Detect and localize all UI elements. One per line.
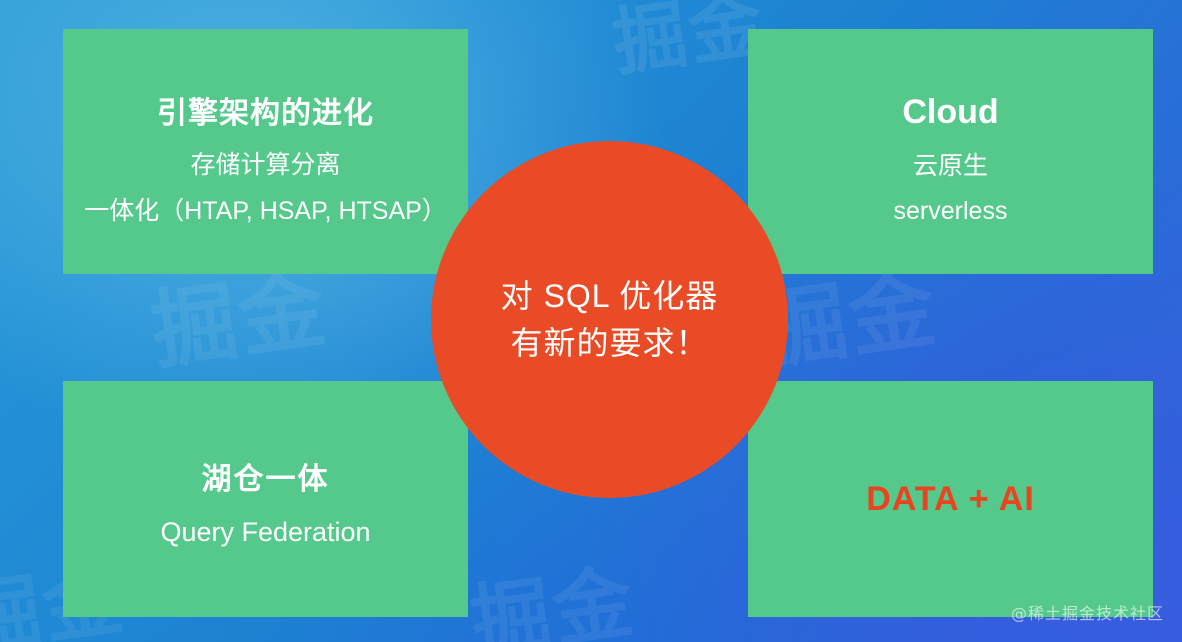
card-cloud: Cloud 云原生 serverless xyxy=(748,29,1153,274)
card-cloud-line-1: 云原生 xyxy=(913,151,988,181)
card-engine-architecture-line-1: 存储计算分离 xyxy=(190,150,340,180)
card-data-ai-title: DATA + AI xyxy=(866,481,1035,518)
card-cloud-line-2: serverless xyxy=(894,196,1008,226)
corner-watermark: @稀土掘金技术社区 xyxy=(1011,600,1164,624)
card-lakehouse: 湖仓一体 Query Federation xyxy=(63,381,468,617)
card-engine-architecture-line-2: 一体化（HTAP, HSAP, HTSAP） xyxy=(84,196,447,226)
slide-canvas: 掘金 掘金 掘金 掘金 掘金 引擎架构的进化 存储计算分离 一体化（HTAP, … xyxy=(0,0,1182,642)
background-watermark-text: 掘金 xyxy=(605,0,770,91)
card-engine-architecture-title: 引擎架构的进化 xyxy=(157,97,374,130)
background-watermark-text: 掘金 xyxy=(463,537,642,642)
card-lakehouse-line-1: Query Federation xyxy=(160,516,370,548)
card-data-ai: DATA + AI xyxy=(748,381,1153,617)
card-engine-architecture: 引擎架构的进化 存储计算分离 一体化（HTAP, HSAP, HTSAP） xyxy=(63,29,468,274)
card-lakehouse-title: 湖仓一体 xyxy=(202,463,330,496)
center-circle-line-1: 对 SQL 优化器 xyxy=(501,273,719,319)
center-highlight-circle: 对 SQL 优化器 有新的要求！ xyxy=(431,141,788,498)
card-cloud-title: Cloud xyxy=(902,94,998,131)
center-circle-line-2: 有新的要求！ xyxy=(510,320,708,366)
